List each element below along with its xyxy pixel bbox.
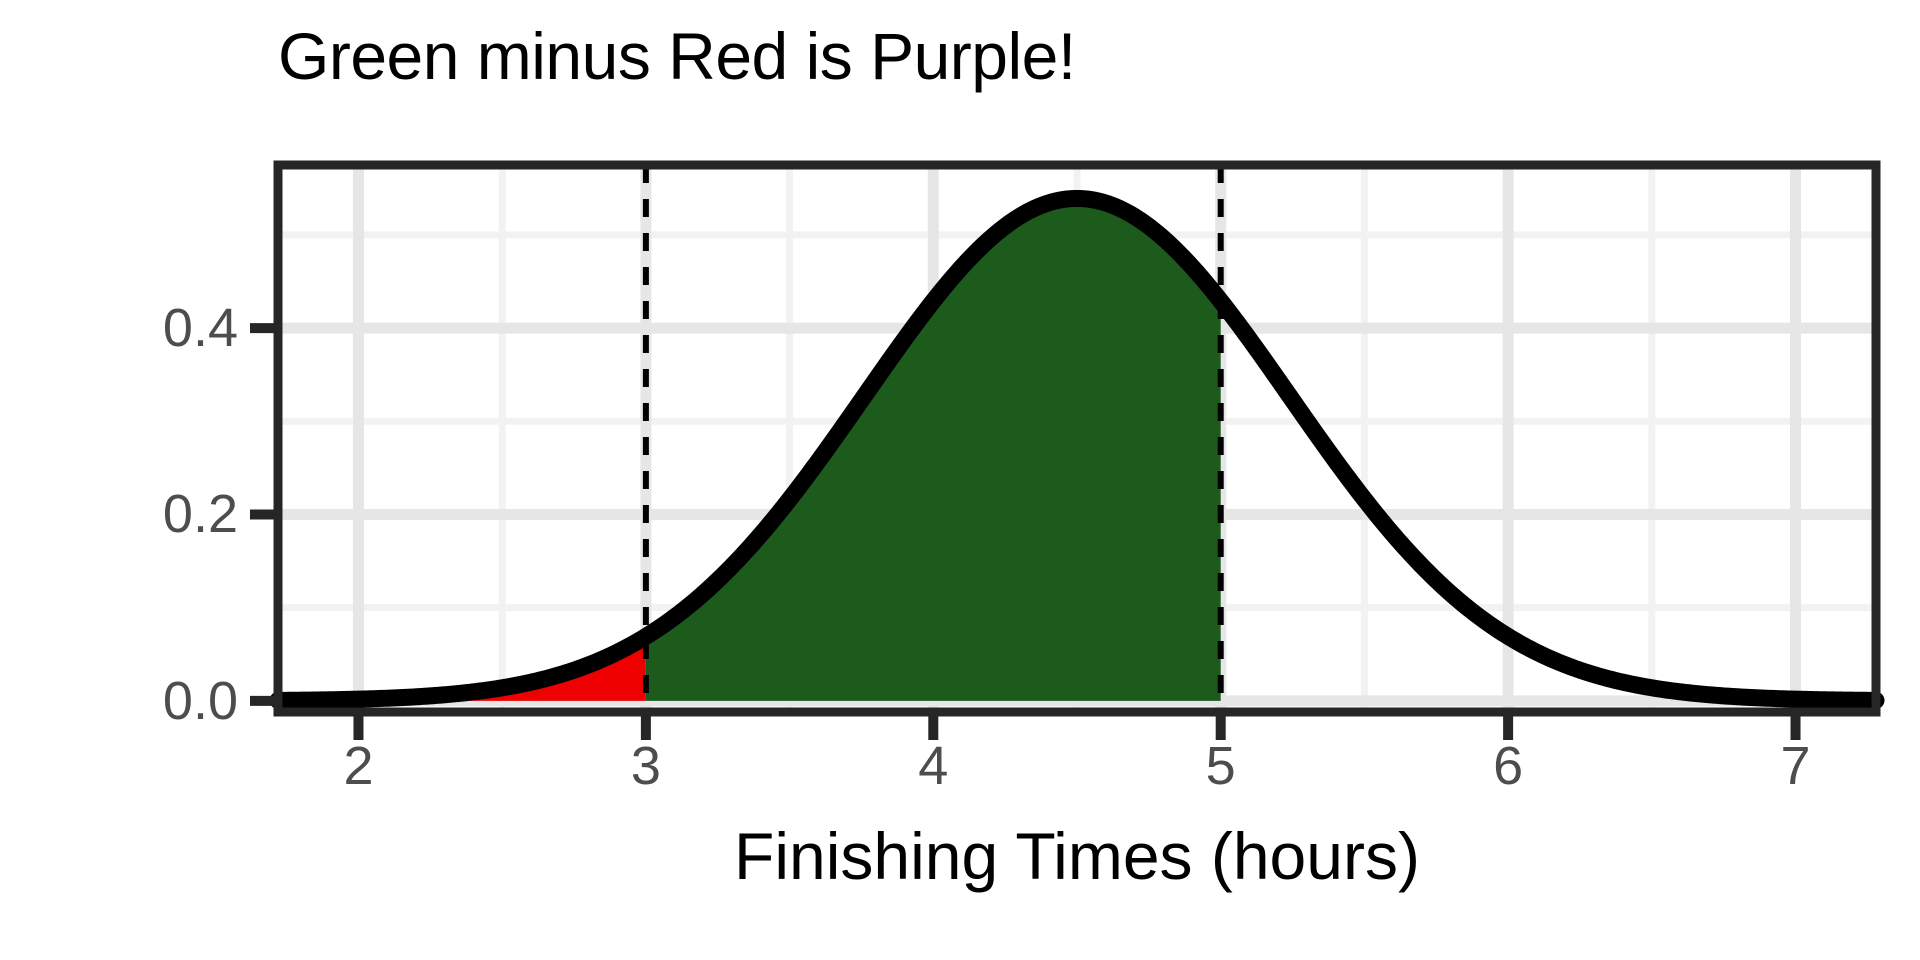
y-tick-label: 0.0	[163, 670, 238, 732]
x-tick-label: 4	[918, 735, 948, 797]
y-tick-label: 0.4	[163, 297, 238, 359]
y-tick-label: 0.2	[163, 483, 238, 545]
x-tick-label: 5	[1206, 735, 1236, 797]
x-axis-title: Finishing Times (hours)	[278, 818, 1876, 894]
plot-area	[0, 0, 1920, 960]
x-tick-label: 6	[1493, 735, 1523, 797]
shaded-regions	[278, 198, 1221, 700]
x-tick-label: 3	[631, 735, 661, 797]
chart-figure: Green minus Red is Purple! 234567 0.00.2…	[0, 0, 1920, 960]
x-tick-label: 7	[1780, 735, 1810, 797]
x-tick-label: 2	[343, 735, 373, 797]
